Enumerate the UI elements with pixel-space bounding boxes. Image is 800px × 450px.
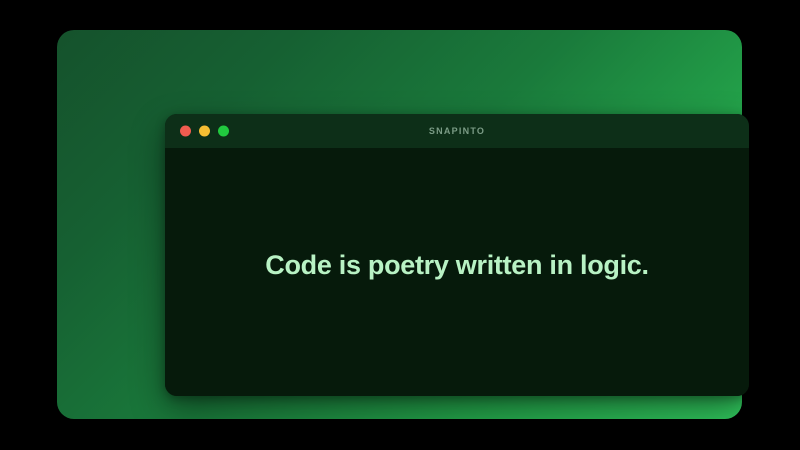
minimize-button-icon[interactable] [199, 126, 210, 137]
window-title-label: SNAPINTO [165, 114, 749, 148]
traffic-light-controls [180, 126, 229, 137]
close-button-icon[interactable] [180, 126, 191, 137]
gradient-backdrop-card: SNAPINTO Code is poetry written in logic… [57, 30, 742, 419]
window-content-area: Code is poetry written in logic. [165, 148, 749, 396]
window-title-bar[interactable]: SNAPINTO [165, 114, 749, 148]
quote-text: Code is poetry written in logic. [265, 248, 648, 283]
app-window: SNAPINTO Code is poetry written in logic… [165, 114, 749, 396]
screenshot-canvas: SNAPINTO Code is poetry written in logic… [0, 0, 800, 450]
zoom-button-icon[interactable] [218, 126, 229, 137]
